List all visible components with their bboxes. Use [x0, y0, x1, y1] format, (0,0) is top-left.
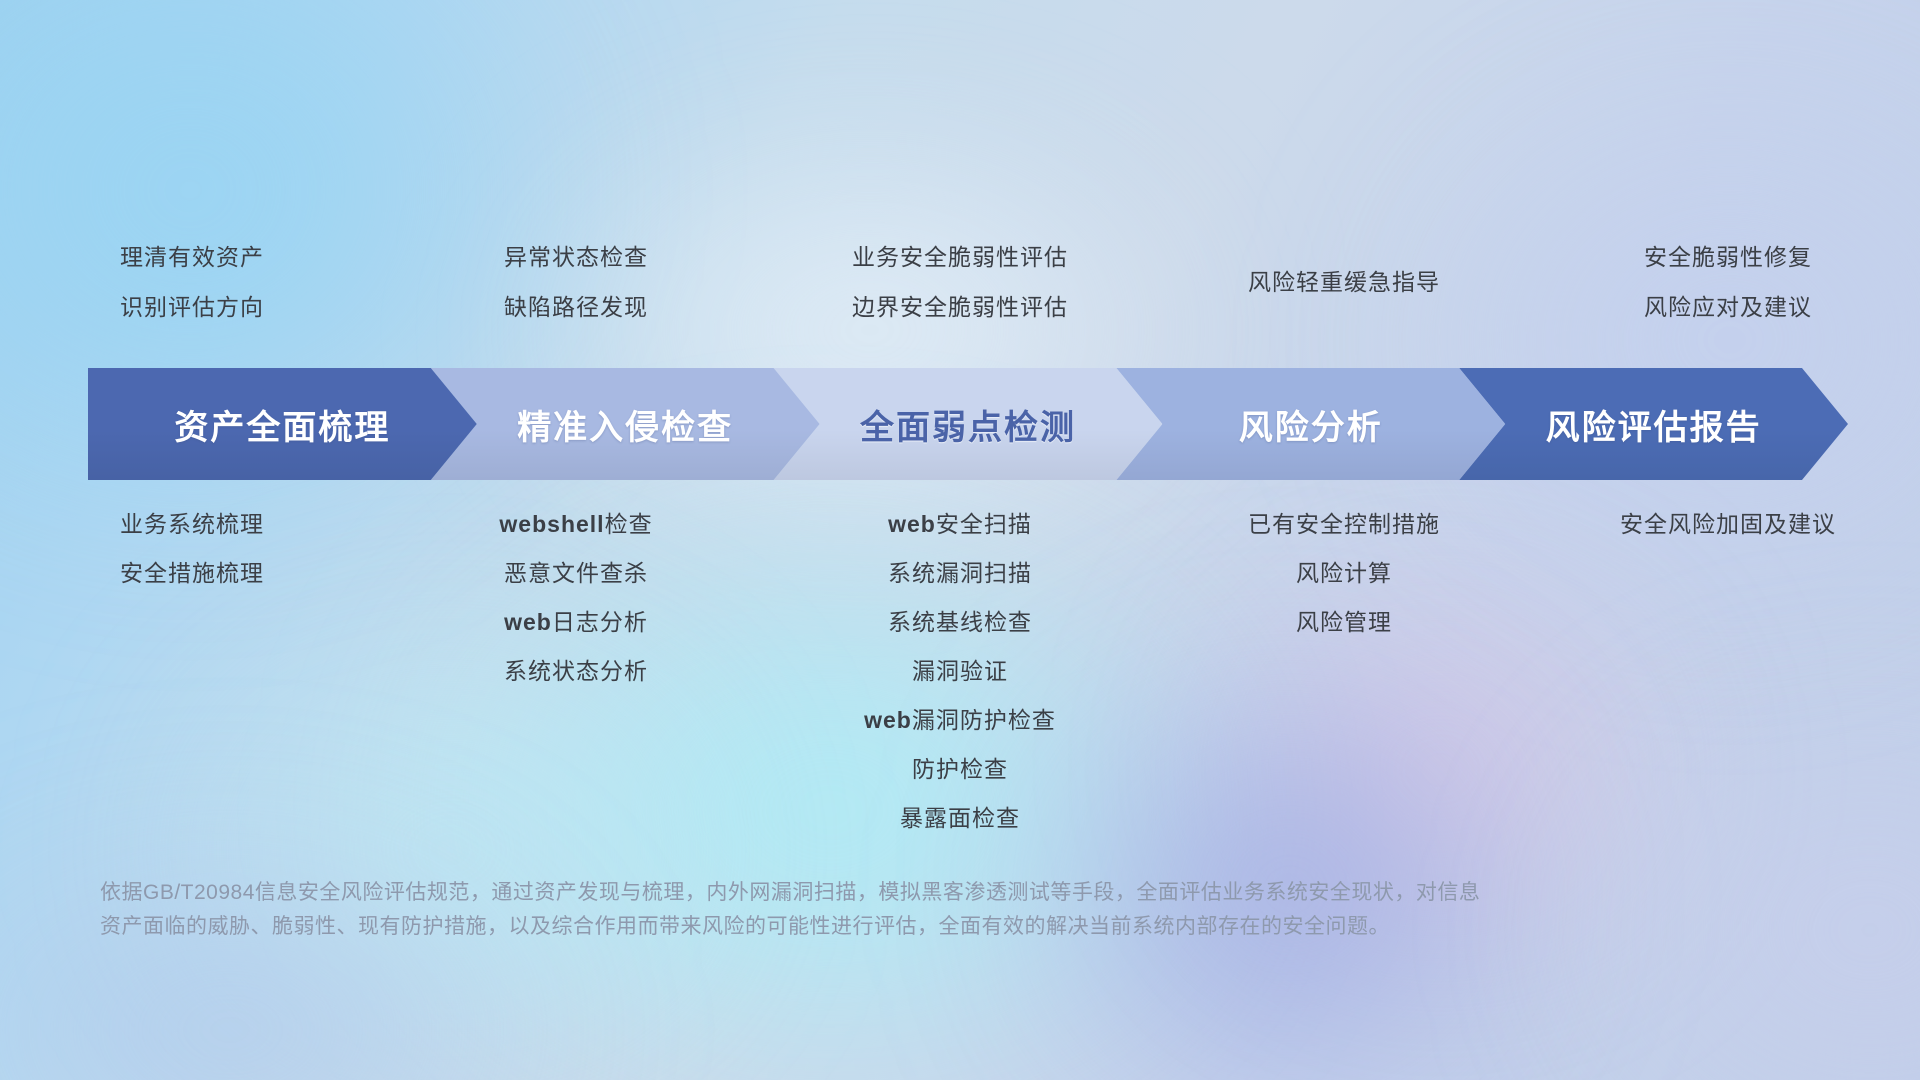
- bottom-item: 系统基线检查: [768, 598, 1152, 647]
- bottom-item: 系统状态分析: [384, 647, 768, 696]
- bottom-item: 业务系统梳理: [0, 500, 384, 549]
- bottom-item: 系统漏洞扫描: [768, 549, 1152, 598]
- top-note: 安全脆弱性修复: [1536, 232, 1920, 282]
- footer-line-1: 依据GB/T20984信息安全风险评估规范，通过资产发现与梳理，内外网漏洞扫描，…: [100, 876, 1630, 910]
- stage-chevron-3[interactable]: 全面弱点检测: [774, 368, 1163, 480]
- bottom-item-keyword: web: [888, 511, 936, 537]
- top-note: 边界安全脆弱性评估: [768, 282, 1152, 332]
- bottom-items-cell-5: 安全风险加固及建议: [1536, 500, 1920, 843]
- top-note-cell-2: 异常状态检查缺陷路径发现: [384, 232, 768, 332]
- stage-label: 风险评估报告: [1546, 400, 1762, 449]
- top-note: 异常状态检查: [384, 232, 768, 282]
- bottom-items-row: 业务系统梳理安全措施梳理webshell检查恶意文件查杀web日志分析系统状态分…: [0, 500, 1920, 843]
- bottom-item: 已有安全控制措施: [1152, 500, 1536, 549]
- stage-label: 精准入侵检查: [517, 400, 733, 449]
- bottom-item: web漏洞防护检查: [768, 696, 1152, 745]
- top-note-cell-1: 理清有效资产识别评估方向: [0, 232, 384, 332]
- stage-chevron-2[interactable]: 精准入侵检查: [431, 368, 820, 480]
- bottom-items-cell-3: web安全扫描系统漏洞扫描系统基线检查漏洞验证web漏洞防护检查防护检查暴露面检…: [768, 500, 1152, 843]
- footer-description: 依据GB/T20984信息安全风险评估规范，通过资产发现与梳理，内外网漏洞扫描，…: [100, 876, 1630, 944]
- bottom-item: 风险管理: [1152, 598, 1536, 647]
- top-note: 风险轻重缓急指导: [1152, 257, 1536, 307]
- bottom-item: 防护检查: [768, 745, 1152, 794]
- process-diagram: 理清有效资产识别评估方向异常状态检查缺陷路径发现业务安全脆弱性评估边界安全脆弱性…: [0, 0, 1920, 1080]
- bottom-items-cell-2: webshell检查恶意文件查杀web日志分析系统状态分析: [384, 500, 768, 843]
- stage-label: 资产全面梳理: [174, 400, 390, 449]
- top-notes-row: 理清有效资产识别评估方向异常状态检查缺陷路径发现业务安全脆弱性评估边界安全脆弱性…: [0, 232, 1920, 332]
- footer-line-2: 资产面临的威胁、脆弱性、现有防护措施，以及综合作用而带来风险的可能性进行评估，全…: [100, 910, 1630, 944]
- top-note: 业务安全脆弱性评估: [768, 232, 1152, 282]
- bottom-item: 安全措施梳理: [0, 549, 384, 598]
- bottom-item: web安全扫描: [768, 500, 1152, 549]
- bottom-item: 风险计算: [1152, 549, 1536, 598]
- stage-label: 风险分析: [1239, 400, 1383, 449]
- top-note: 缺陷路径发现: [384, 282, 768, 332]
- bottom-item: 安全风险加固及建议: [1536, 500, 1920, 549]
- bottom-item: 恶意文件查杀: [384, 549, 768, 598]
- top-note: 识别评估方向: [0, 282, 384, 332]
- stage-chevron-4[interactable]: 风险分析: [1116, 368, 1505, 480]
- bottom-items-cell-4: 已有安全控制措施风险计算风险管理: [1152, 500, 1536, 843]
- bottom-item: web日志分析: [384, 598, 768, 647]
- bottom-item: 暴露面检查: [768, 794, 1152, 843]
- bottom-item-keyword: webshell: [499, 511, 604, 537]
- bottom-item-keyword: web: [504, 609, 552, 635]
- top-note: 理清有效资产: [0, 232, 384, 282]
- stage-label: 全面弱点检测: [860, 400, 1076, 449]
- top-note: 风险应对及建议: [1536, 282, 1920, 332]
- bottom-item: webshell检查: [384, 500, 768, 549]
- bottom-items-cell-1: 业务系统梳理安全措施梳理: [0, 500, 384, 843]
- top-note-cell-5: 安全脆弱性修复风险应对及建议: [1536, 232, 1920, 332]
- top-note-cell-3: 业务安全脆弱性评估边界安全脆弱性评估: [768, 232, 1152, 332]
- bottom-item: 漏洞验证: [768, 647, 1152, 696]
- stage-chevron-band: 资产全面梳理精准入侵检查全面弱点检测风险分析风险评估报告: [88, 368, 1848, 480]
- stage-chevron-1[interactable]: 资产全面梳理: [88, 368, 477, 480]
- top-note-cell-4: 风险轻重缓急指导: [1152, 232, 1536, 332]
- stage-chevron-5[interactable]: 风险评估报告: [1459, 368, 1848, 480]
- bottom-item-keyword: web: [864, 707, 912, 733]
